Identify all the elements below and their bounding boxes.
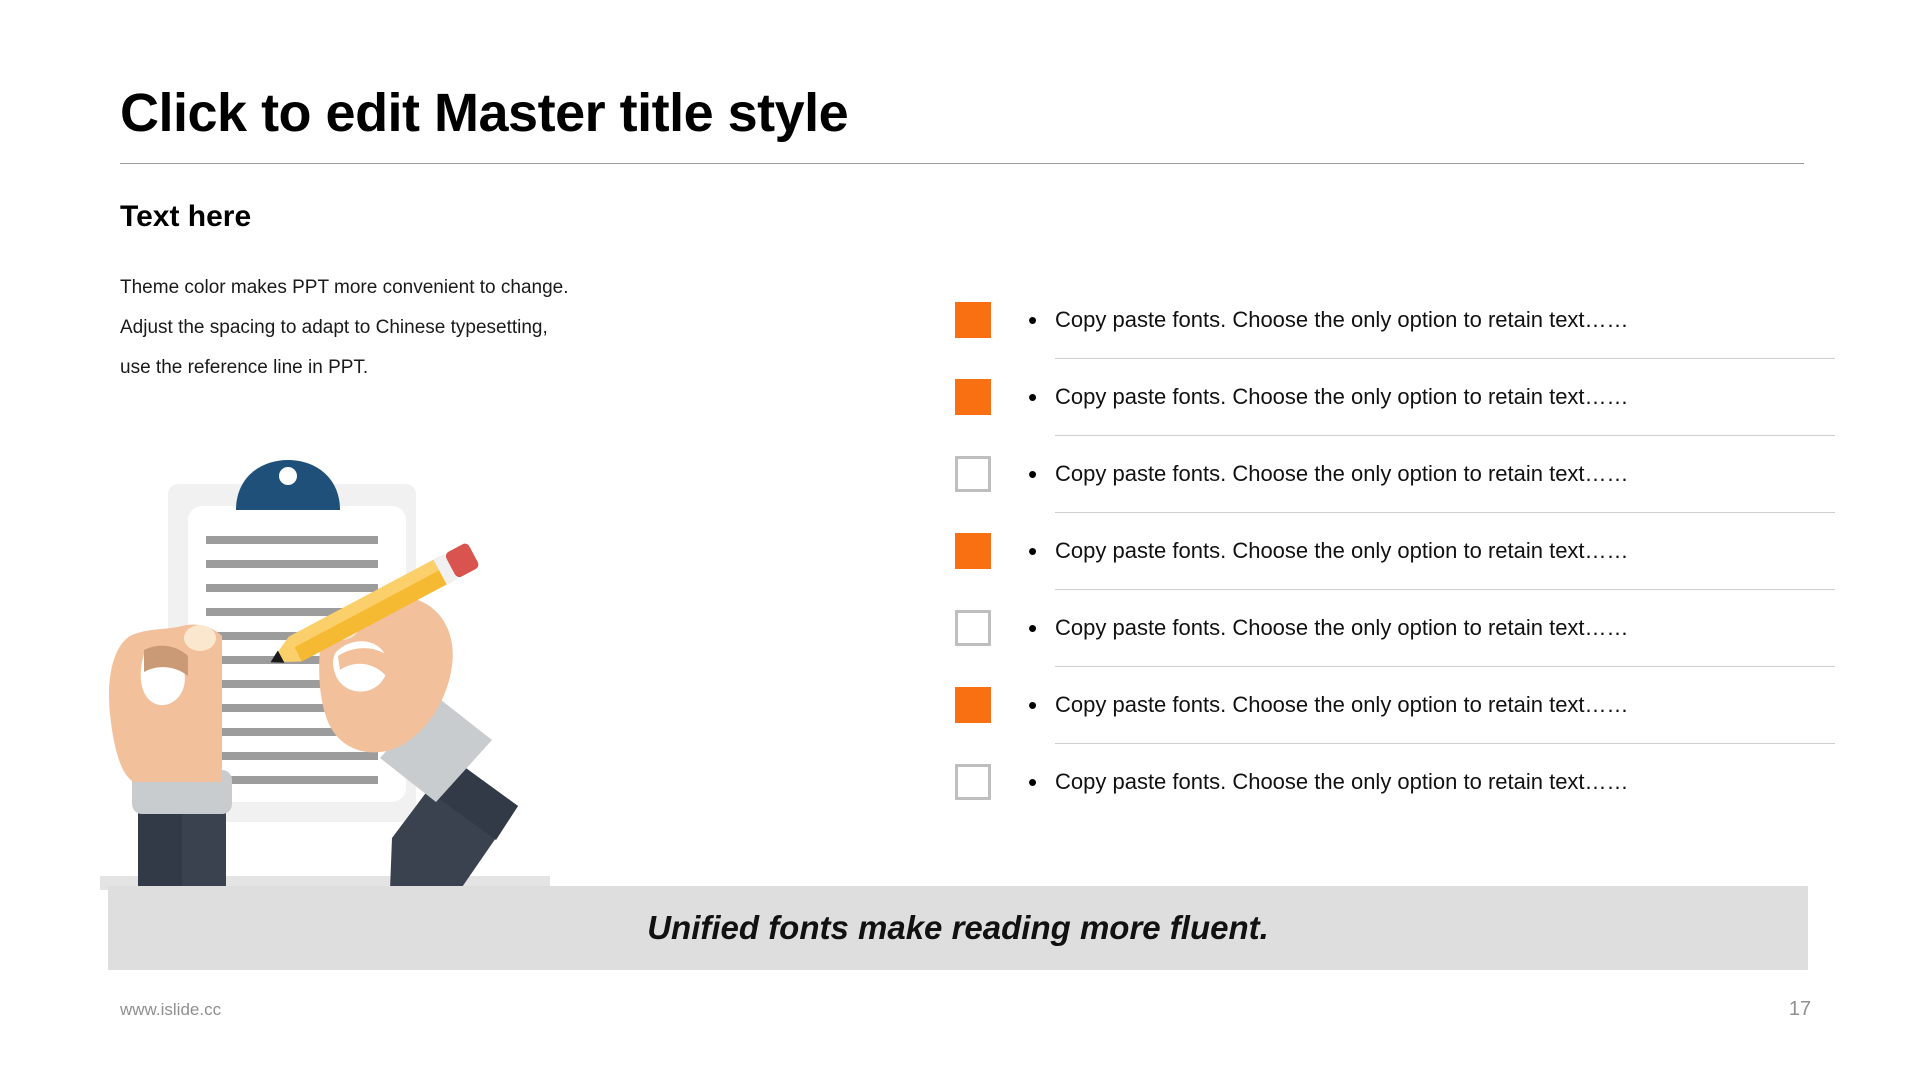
list-item[interactable]: • Copy paste fonts. Choose the only opti… <box>955 526 1835 603</box>
list-item-divider <box>1055 358 1835 359</box>
slide-canvas: Click to edit Master title style Text he… <box>0 0 1920 1080</box>
bullet-icon: • <box>1028 765 1037 799</box>
list-item-divider <box>1055 743 1835 744</box>
list-item-label: Copy paste fonts. Choose the only option… <box>1055 609 1629 647</box>
banner-text: Unified fonts make reading more fluent. <box>647 909 1269 947</box>
status-square-icon[interactable] <box>955 302 991 338</box>
page-number: 17 <box>1770 998 1830 1021</box>
bullet-icon: • <box>1028 303 1037 337</box>
list-item-divider <box>1055 512 1835 513</box>
list-item[interactable]: • Copy paste fonts. Choose the only opti… <box>955 295 1835 372</box>
paragraph-line-3: use the reference line in PPT. <box>120 348 680 388</box>
status-square-icon[interactable] <box>955 533 991 569</box>
list-item[interactable]: • Copy paste fonts. Choose the only opti… <box>955 680 1835 757</box>
page-title: Click to edit Master title style <box>120 82 848 144</box>
body-paragraph: Theme color makes PPT more convenient to… <box>120 268 680 388</box>
status-square-icon[interactable] <box>955 379 991 415</box>
status-square-icon[interactable] <box>955 764 991 800</box>
clipboard-writing-illustration <box>100 440 550 890</box>
checklist: • Copy paste fonts. Choose the only opti… <box>955 295 1835 834</box>
footer-url[interactable]: www.islide.cc <box>120 1000 221 1020</box>
title-divider <box>120 163 1804 164</box>
list-item-label: Copy paste fonts. Choose the only option… <box>1055 378 1629 416</box>
highlight-banner: Unified fonts make reading more fluent. <box>108 886 1808 970</box>
list-item-label: Copy paste fonts. Choose the only option… <box>1055 301 1629 339</box>
bullet-icon: • <box>1028 380 1037 414</box>
list-item-label: Copy paste fonts. Choose the only option… <box>1055 455 1629 493</box>
bullet-icon: • <box>1028 611 1037 645</box>
list-item-label: Copy paste fonts. Choose the only option… <box>1055 532 1629 570</box>
list-item-label: Copy paste fonts. Choose the only option… <box>1055 763 1629 801</box>
status-square-icon[interactable] <box>955 610 991 646</box>
list-item-label: Copy paste fonts. Choose the only option… <box>1055 686 1629 724</box>
list-item-divider <box>1055 666 1835 667</box>
bullet-icon: • <box>1028 534 1037 568</box>
paragraph-line-1: Theme color makes PPT more convenient to… <box>120 268 680 308</box>
list-item[interactable]: • Copy paste fonts. Choose the only opti… <box>955 603 1835 680</box>
list-item[interactable]: • Copy paste fonts. Choose the only opti… <box>955 449 1835 526</box>
list-item-divider <box>1055 589 1835 590</box>
section-subheading: Text here <box>120 200 251 234</box>
bullet-icon: • <box>1028 688 1037 722</box>
bullet-icon: • <box>1028 457 1037 491</box>
status-square-icon[interactable] <box>955 456 991 492</box>
list-item[interactable]: • Copy paste fonts. Choose the only opti… <box>955 757 1835 834</box>
status-square-icon[interactable] <box>955 687 991 723</box>
paragraph-line-2: Adjust the spacing to adapt to Chinese t… <box>120 308 680 348</box>
list-item[interactable]: • Copy paste fonts. Choose the only opti… <box>955 372 1835 449</box>
list-item-divider <box>1055 435 1835 436</box>
